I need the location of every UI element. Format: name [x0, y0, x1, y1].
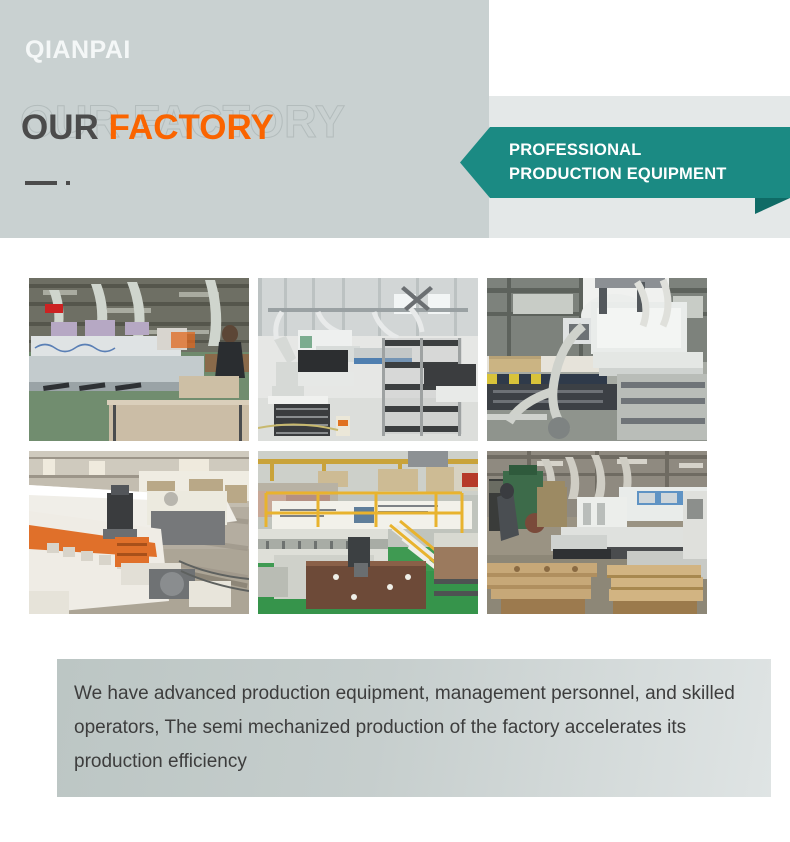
photo-grid [29, 278, 707, 614]
divider-dot [66, 181, 70, 185]
factory-photo-4[interactable] [29, 451, 249, 614]
banner-label: PROFESSIONAL PRODUCTION EQUIPMENT [509, 139, 727, 187]
photo-card [14, 238, 716, 657]
factory-photo-1[interactable] [29, 278, 249, 441]
title-word-factory: FACTORY [109, 108, 274, 147]
divider-bar [25, 181, 57, 185]
factory-photo-5[interactable] [258, 451, 478, 614]
professional-equipment-banner: PROFESSIONAL PRODUCTION EQUIPMENT [460, 127, 790, 198]
factory-description-panel: We have advanced production equipment, m… [57, 659, 771, 797]
title-word-our: OUR [21, 108, 99, 147]
factory-page: QIANPAI OUR FACTORY OUR FACTORY PROFESSI… [0, 0, 790, 842]
factory-photo-2[interactable] [258, 278, 478, 441]
factory-photo-6[interactable] [487, 451, 707, 614]
title-divider [25, 181, 70, 185]
factory-photo-3[interactable] [487, 278, 707, 441]
brand-logo: QIANPAI [25, 36, 131, 65]
factory-description-text: We have advanced production equipment, m… [57, 677, 771, 778]
page-title: OUR FACTORY [21, 110, 274, 145]
